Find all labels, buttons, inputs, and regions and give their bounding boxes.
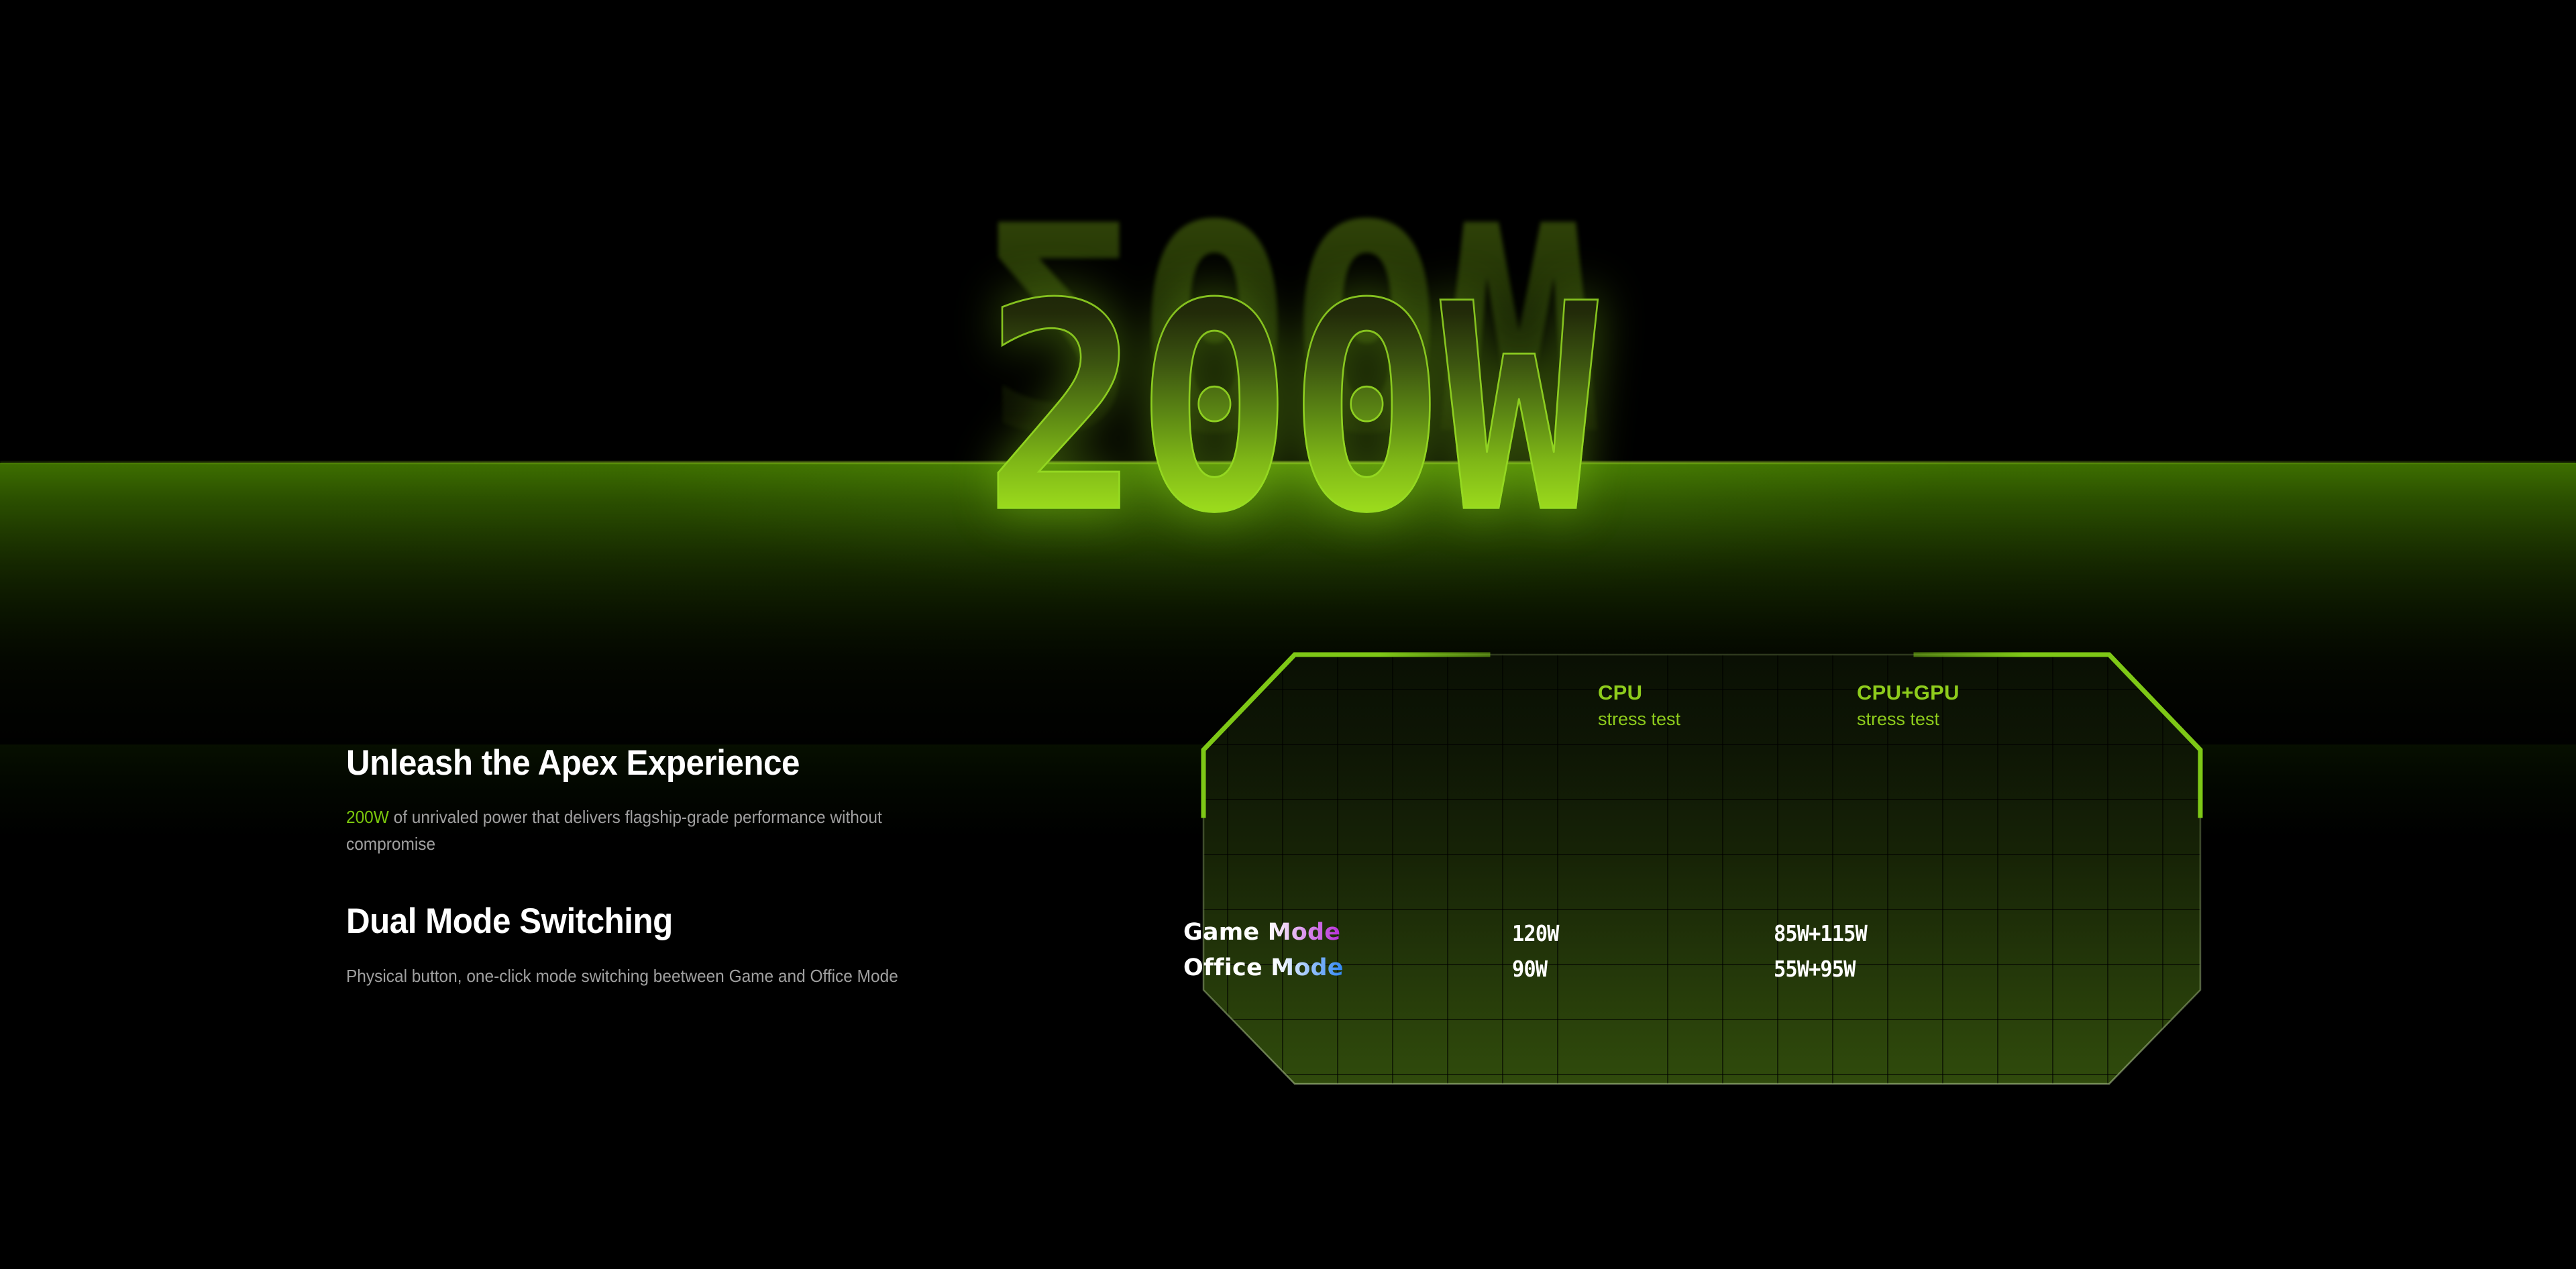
page-stage: 200W 200W Unleash the Apex Experience 20… [0, 0, 2576, 1269]
row-label-office-word1: Office [1183, 954, 1271, 981]
spec-table-panel: CPU stress test CPU+GPU stress test Game… [1173, 648, 2231, 1091]
row-label-office-mode: Office Mode [1183, 954, 1344, 981]
horizon-line [0, 461, 2576, 463]
cell-office-cpugpu: 55W+95W [1774, 956, 1856, 982]
subtext-apex-rest: of unrivaled power that delivers flagshi… [346, 807, 882, 854]
table-header-cpugpu-subtitle: stress test [1857, 708, 1960, 730]
subtext-apex: 200W of unrivaled power that delivers fl… [346, 804, 939, 857]
background-sky [0, 0, 2576, 463]
copy-block-apex: Unleash the Apex Experience 200W of unri… [346, 743, 1057, 857]
heading-dual-mode: Dual Mode Switching [346, 901, 1008, 941]
table-header-cpu-subtitle: stress test [1598, 708, 1680, 730]
table-header-cpugpu: CPU+GPU stress test [1857, 681, 1960, 730]
table-header-cpu-title: CPU [1598, 681, 1680, 705]
subtext-dual-mode: Physical button, one-click mode switchin… [346, 963, 939, 990]
cell-office-cpu: 90W [1512, 956, 1547, 982]
table-header-cpugpu-title: CPU+GPU [1857, 681, 1960, 705]
heading-apex: Unleash the Apex Experience [346, 743, 1008, 783]
table-header-cpu: CPU stress test [1598, 681, 1680, 730]
panel-content: CPU stress test CPU+GPU stress test Game… [1173, 648, 2231, 1091]
copy-block-dualmode: Dual Mode Switching Physical button, one… [346, 901, 1057, 989]
row-label-game-word2: Mode [1268, 919, 1340, 946]
subtext-dual-mode-rest: Physical button, one-click mode switchin… [346, 966, 898, 986]
row-label-game-mode: Game Mode [1183, 919, 1340, 946]
row-label-office-word2: Mode [1271, 954, 1343, 981]
cell-game-cpugpu: 85W+115W [1774, 920, 1867, 946]
row-label-game-word1: Game [1183, 919, 1268, 946]
cell-game-cpu: 120W [1512, 920, 1558, 946]
accent-200w: 200W [346, 807, 389, 827]
copy-column: Unleash the Apex Experience 200W of unri… [346, 743, 1057, 989]
